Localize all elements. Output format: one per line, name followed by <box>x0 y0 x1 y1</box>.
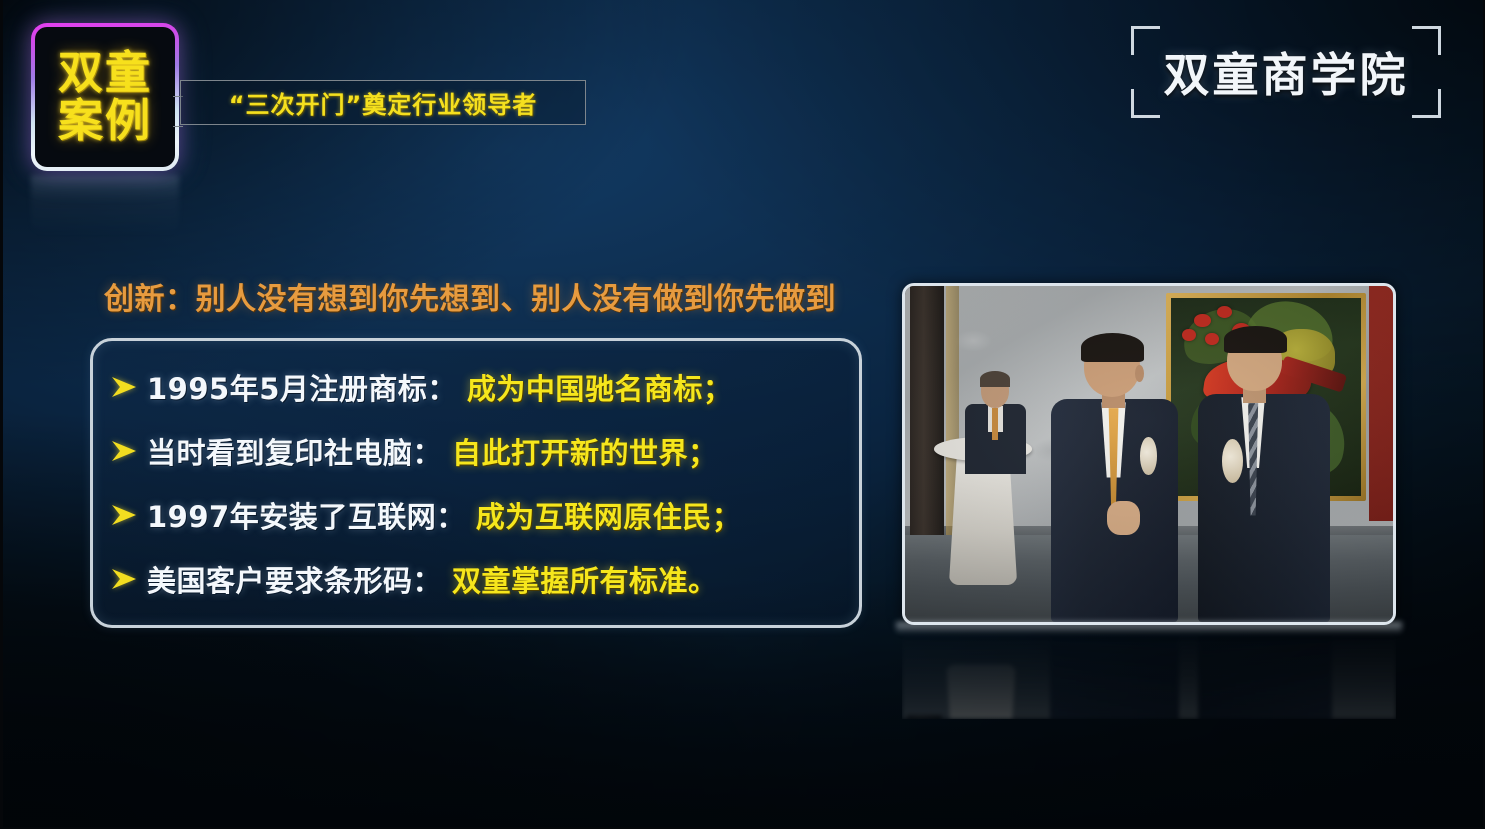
arrow-bullet-icon <box>107 436 141 466</box>
arrow-bullet-icon <box>107 500 141 530</box>
list-item: 1997年安装了互联网： 成为互联网原住民； <box>107 486 841 544</box>
event-photo <box>902 283 1396 625</box>
list-item-accent: 成为中国驰名商标； <box>467 366 733 408</box>
badge-strip-connector-bottom <box>173 126 183 127</box>
subtitle-strip: “三次开门”奠定行业领导者 <box>180 80 586 125</box>
event-photo-canvas <box>905 286 1393 622</box>
bullet-list-box: 1995年5月注册商标： 成为中国驰名商标； 当时看到复印社电脑： 自此打开新的… <box>90 338 862 628</box>
page-title: 创新：别人没有想到你先想到、别人没有做到你先做到 <box>104 274 836 318</box>
brand-logo: 双童商学院 <box>1131 26 1441 118</box>
case-badge-line-2: 案例 <box>58 98 152 144</box>
list-item-accent: 双童掌握所有标准。 <box>452 558 718 600</box>
case-badge-line-1: 双童 <box>58 50 152 96</box>
list-item: 当时看到复印社电脑： 自此打开新的世界； <box>107 422 841 480</box>
arrow-bullet-icon <box>107 564 141 594</box>
arrow-bullet-icon <box>107 372 141 402</box>
brand-logo-text: 双童商学院 <box>1131 26 1441 118</box>
list-item: 美国客户要求条形码： 双童掌握所有标准。 <box>107 550 841 608</box>
list-item-lead: 1997年安装了互联网： <box>147 494 466 536</box>
list-item: 1995年5月注册商标： 成为中国驰名商标； <box>107 358 841 416</box>
slide-root: 双童 案例 “三次开门”奠定行业领导者 双童商学院 创新：别人没有想到你先想到、… <box>0 0 1485 829</box>
case-badge: 双童 案例 <box>31 23 179 171</box>
list-item-lead: 美国客户要求条形码： <box>147 558 442 600</box>
subtitle-text: “三次开门”奠定行业领导者 <box>229 85 538 120</box>
list-item-accent: 自此打开新的世界； <box>452 430 718 472</box>
list-item-lead: 1995年5月注册商标： <box>147 366 457 408</box>
list-item-lead: 当时看到复印社电脑： <box>147 430 442 472</box>
list-item-accent: 成为互联网原住民； <box>476 494 742 536</box>
case-badge-inner: 双童 案例 <box>35 27 175 167</box>
